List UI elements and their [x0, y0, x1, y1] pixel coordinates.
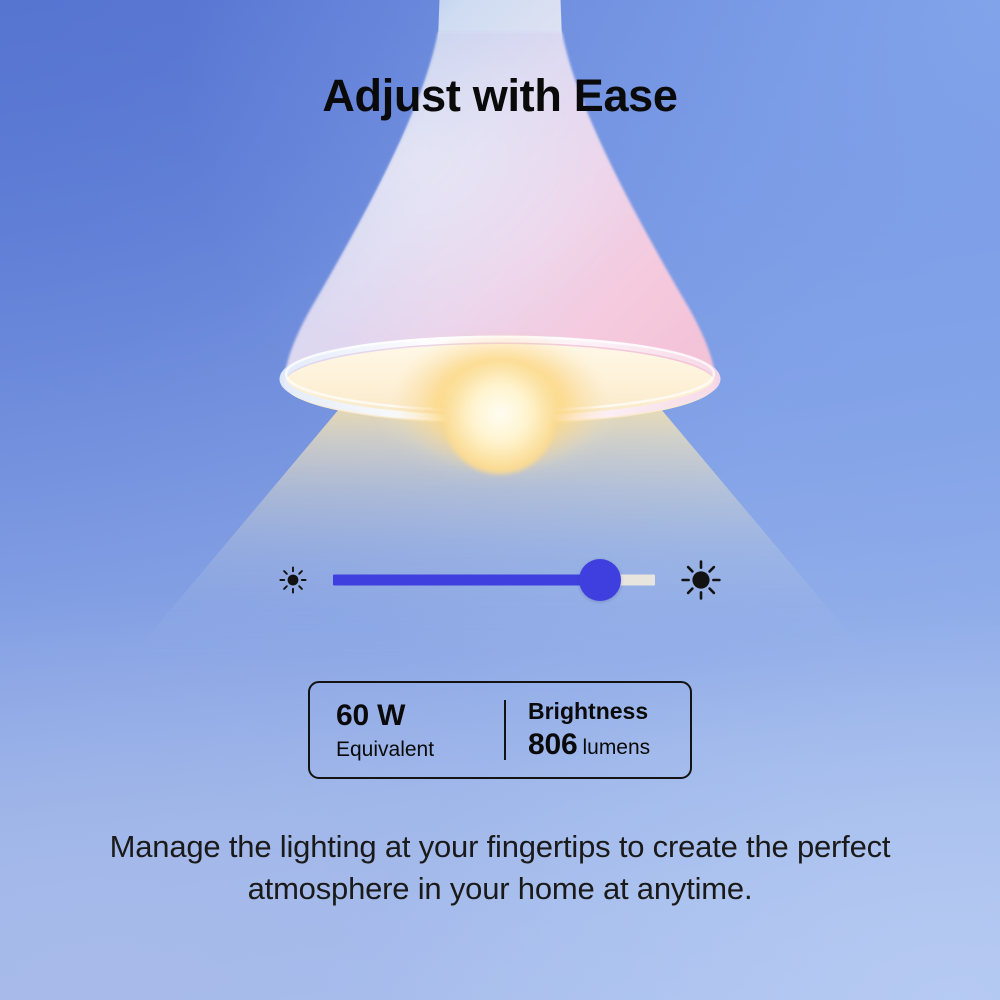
brightness-slider-row [278, 556, 722, 604]
spec-wattage-value: 60 W [336, 698, 504, 733]
page-description: Manage the lighting at your fingertips t… [70, 826, 930, 911]
page-title: Adjust with Ease [0, 71, 1000, 121]
spec-brightness-unit: lumens [582, 736, 650, 759]
spec-brightness-value: 806 [528, 728, 577, 761]
promo-card: Adjust with Ease [0, 0, 1000, 1000]
spec-brightness-heading: Brightness [528, 698, 650, 726]
slider-thumb[interactable] [579, 559, 621, 601]
spec-brightness-line: 806lumens [528, 728, 650, 762]
spec-wattage: 60 W Equivalent [310, 683, 504, 777]
spec-wattage-label: Equivalent [336, 737, 504, 762]
sun-dim-icon [278, 565, 308, 595]
spec-brightness: Brightness 806lumens [506, 683, 650, 777]
sun-bright-icon [680, 559, 722, 601]
brightness-slider[interactable] [333, 559, 655, 601]
glowing-bulb [444, 362, 556, 474]
spec-box: 60 W Equivalent Brightness 806lumens [308, 681, 692, 779]
slider-fill [333, 575, 600, 586]
